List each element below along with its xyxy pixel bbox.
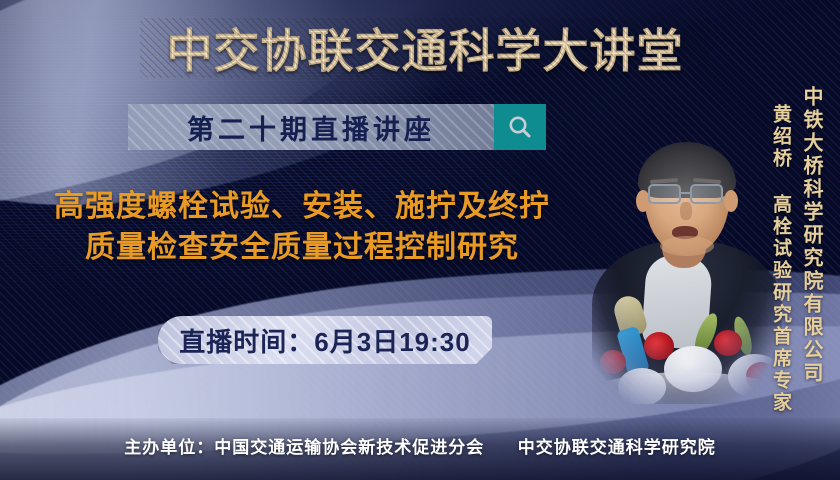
broadcast-time-label: 直播时间：6月3日19:30 [179,322,470,359]
eyeglasses-lens-left [648,184,681,204]
episode-label: 第二十期直播讲座 [187,108,435,147]
speaker-ear-right [724,190,738,212]
speaker-company-vertical: 中铁大桥科学研究院有限公司 [797,86,826,385]
organizer-secondary: 中交协联交通科学研究院 [518,438,716,457]
speaker-nose [680,202,692,220]
speaker-photo [586,136,786,404]
episode-bar: 第二十期直播讲座 [128,104,546,150]
search-icon [506,113,534,141]
speaker-chin [660,236,714,256]
broadcast-time-badge: 直播时间：6月3日19:30 [158,316,492,364]
poster-title: 中交协联交通科学大讲堂 [140,18,710,78]
bouquet-red-flower [600,350,626,374]
lecture-headline: 高强度螺栓试验、安装、施拧及终拧 质量检查安全质量过程控制研究 [8,186,596,269]
eyeglasses-lens-right [690,184,723,204]
search-button[interactable] [494,104,546,150]
bouquet-red-flower [714,330,742,356]
speaker-name-role-vertical: 黄绍桥 高栓试验研究首席专家 [767,104,794,414]
headline-line-2: 质量检查安全质量过程控制研究 [8,227,596,268]
headline-line-1: 高强度螺栓试验、安装、施拧及终拧 [54,190,550,223]
eyeglasses-bridge [681,192,690,194]
organizer-footer: 主办单位：中国交通运输协会新技术促进分会 中交协联交通科学研究院 [0,433,840,458]
live-lecture-poster: 中交协联交通科学大讲堂 第二十期直播讲座 高强度螺栓试验、安装、施拧及终拧 质量… [0,0,840,480]
organizer-primary: 主办单位：中国交通运输协会新技术促进分会 [124,438,484,457]
episode-bar-body: 第二十期直播讲座 [128,104,494,150]
